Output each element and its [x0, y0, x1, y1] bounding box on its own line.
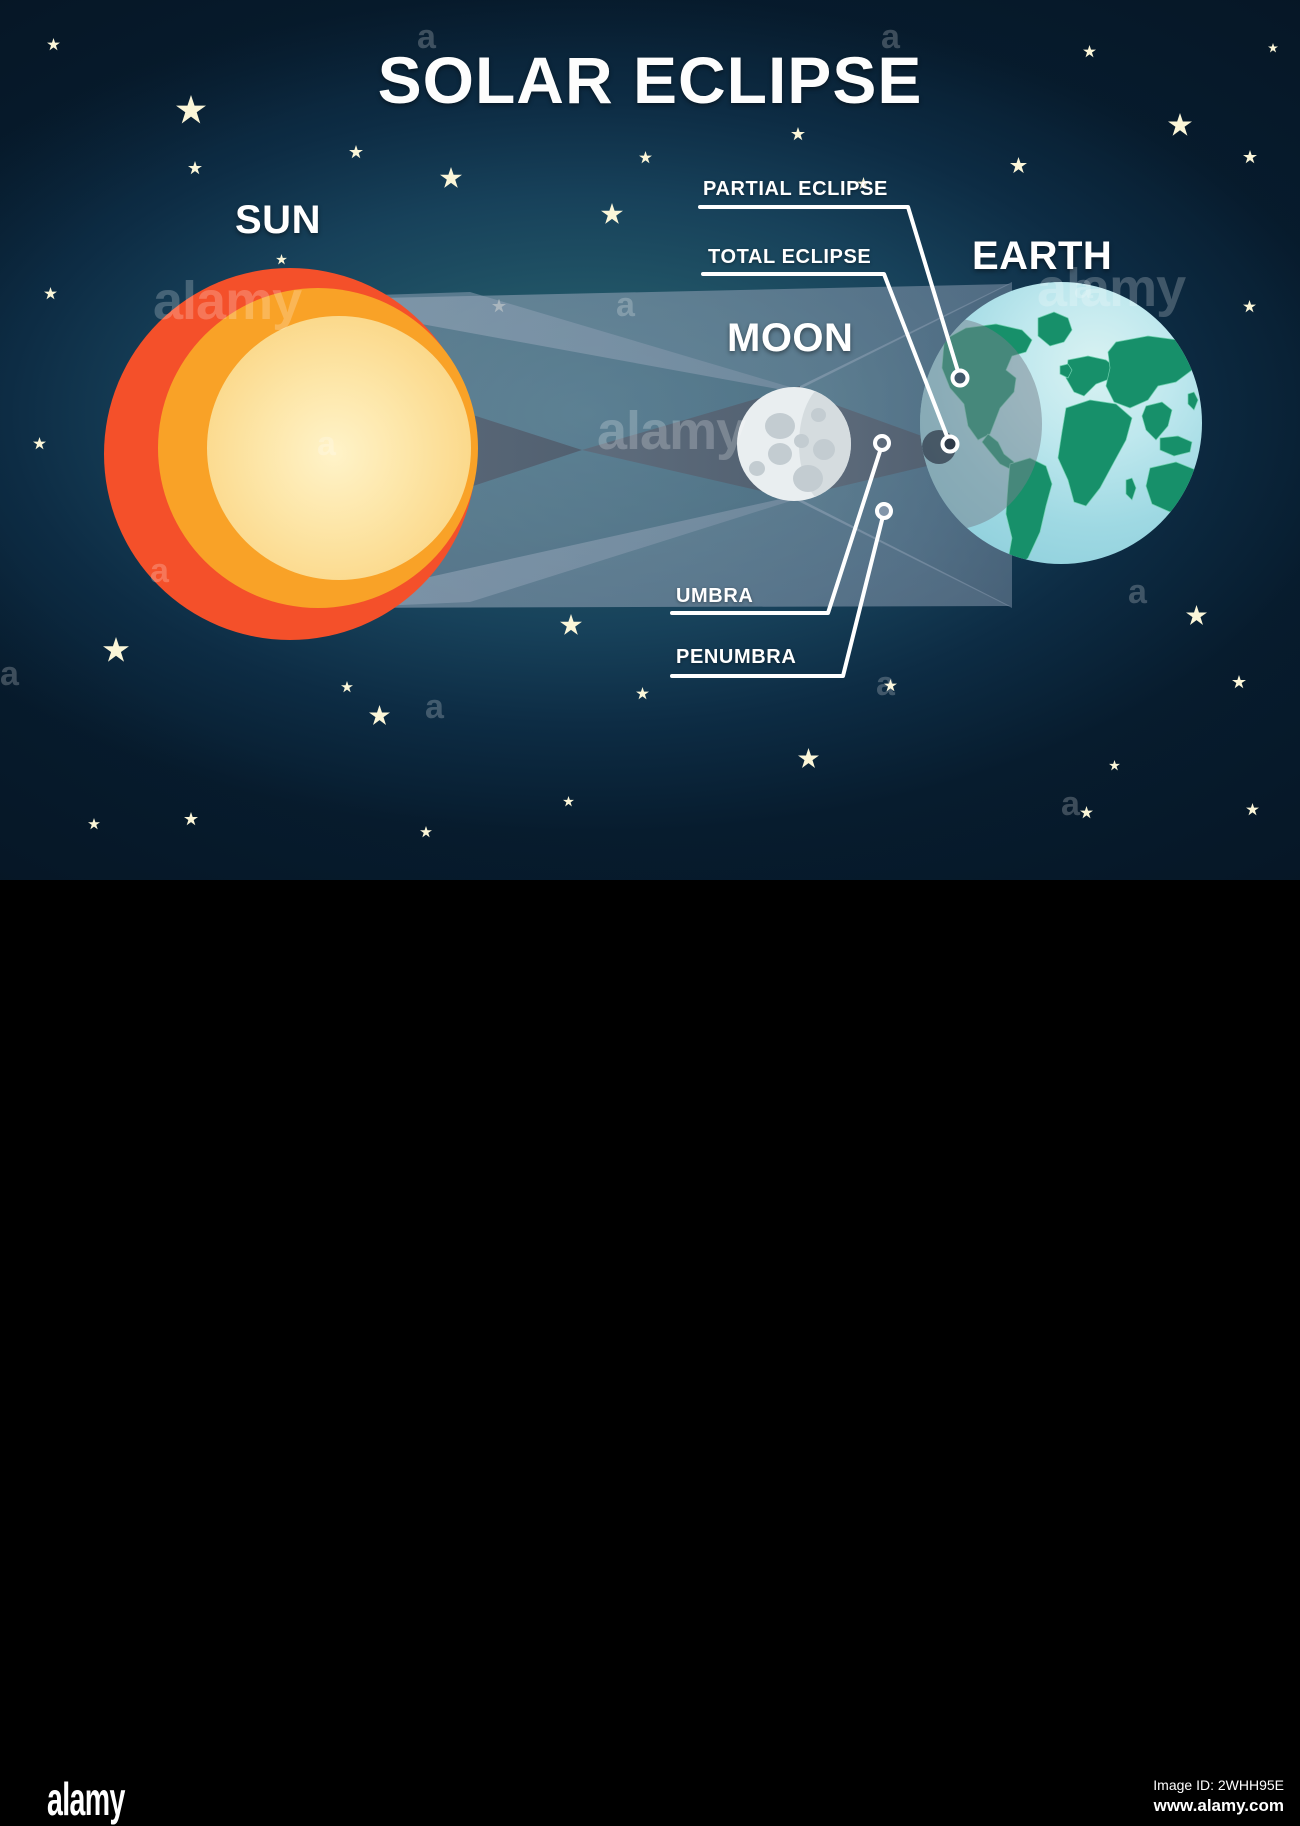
marker-umbra	[875, 436, 889, 450]
label-umbra: UMBRA	[676, 585, 753, 608]
leader-total-eclipse	[703, 274, 950, 444]
label-partial-eclipse: PARTIAL ECLIPSE	[703, 178, 888, 201]
callout-leader-lines	[0, 0, 1300, 880]
marker-total-eclipse	[943, 437, 958, 452]
alamy-logo: alamy	[47, 1772, 125, 1826]
leader-partial-eclipse	[700, 207, 960, 378]
marker-penumbra	[877, 504, 891, 518]
leader-endpoint-markers	[875, 371, 968, 519]
alamy-url-text: www.alamy.com	[1153, 1795, 1284, 1817]
footer-meta: Image ID: 2WHH95E www.alamy.com	[1153, 1775, 1284, 1817]
solar-eclipse-diagram: SOLAR ECLIPSE SUN MOON EARTH PARTIAL ECL…	[0, 0, 1300, 956]
label-total-eclipse: TOTAL ECLIPSE	[708, 246, 871, 269]
marker-partial-eclipse	[953, 371, 968, 386]
image-id-text: Image ID: 2WHH95E	[1153, 1775, 1284, 1795]
label-penumbra: PENUMBRA	[676, 646, 796, 669]
alamy-footer-bar: alamy Image ID: 2WHH95E www.alamy.com	[0, 880, 1300, 956]
